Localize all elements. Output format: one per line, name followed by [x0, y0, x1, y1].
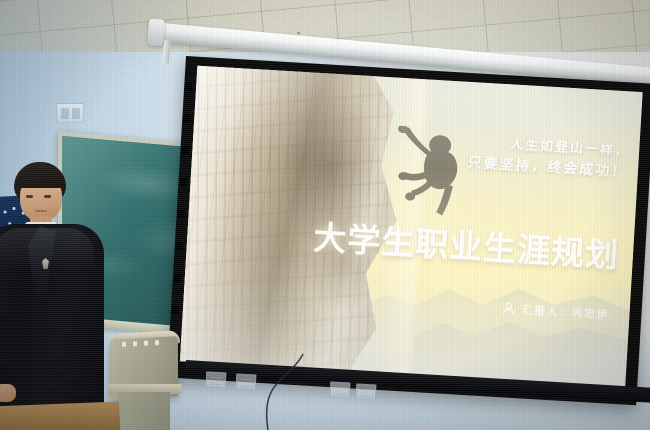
hanging-cable — [245, 352, 315, 430]
roller-end-cap — [147, 18, 165, 46]
light-switch-plate[interactable] — [56, 103, 84, 123]
eye — [44, 195, 51, 198]
mouth — [35, 210, 47, 212]
projection-screen: 人生如登山一样， 只要坚持，终会成功！ 大学生职业生涯规划 汇报人：巩忠伊 — [167, 56, 650, 405]
hair-fringe — [16, 170, 65, 188]
wall-outlet[interactable] — [206, 371, 227, 387]
desk — [0, 402, 121, 430]
wall-outlet[interactable] — [356, 383, 377, 399]
eye — [26, 195, 33, 198]
presenter — [0, 162, 112, 430]
podium-base — [118, 392, 170, 430]
classroom-presentation-photo: 人生如登山一样， 只要坚持，终会成功！ 大学生职业生涯规划 汇报人：巩忠伊 — [0, 0, 650, 430]
hand — [0, 384, 16, 402]
person-icon — [501, 301, 516, 316]
wall-outlet[interactable] — [330, 381, 351, 397]
projected-slide: 人生如登山一样， 只要坚持，终会成功！ 大学生职业生涯规划 汇报人：巩忠伊 — [180, 66, 643, 388]
